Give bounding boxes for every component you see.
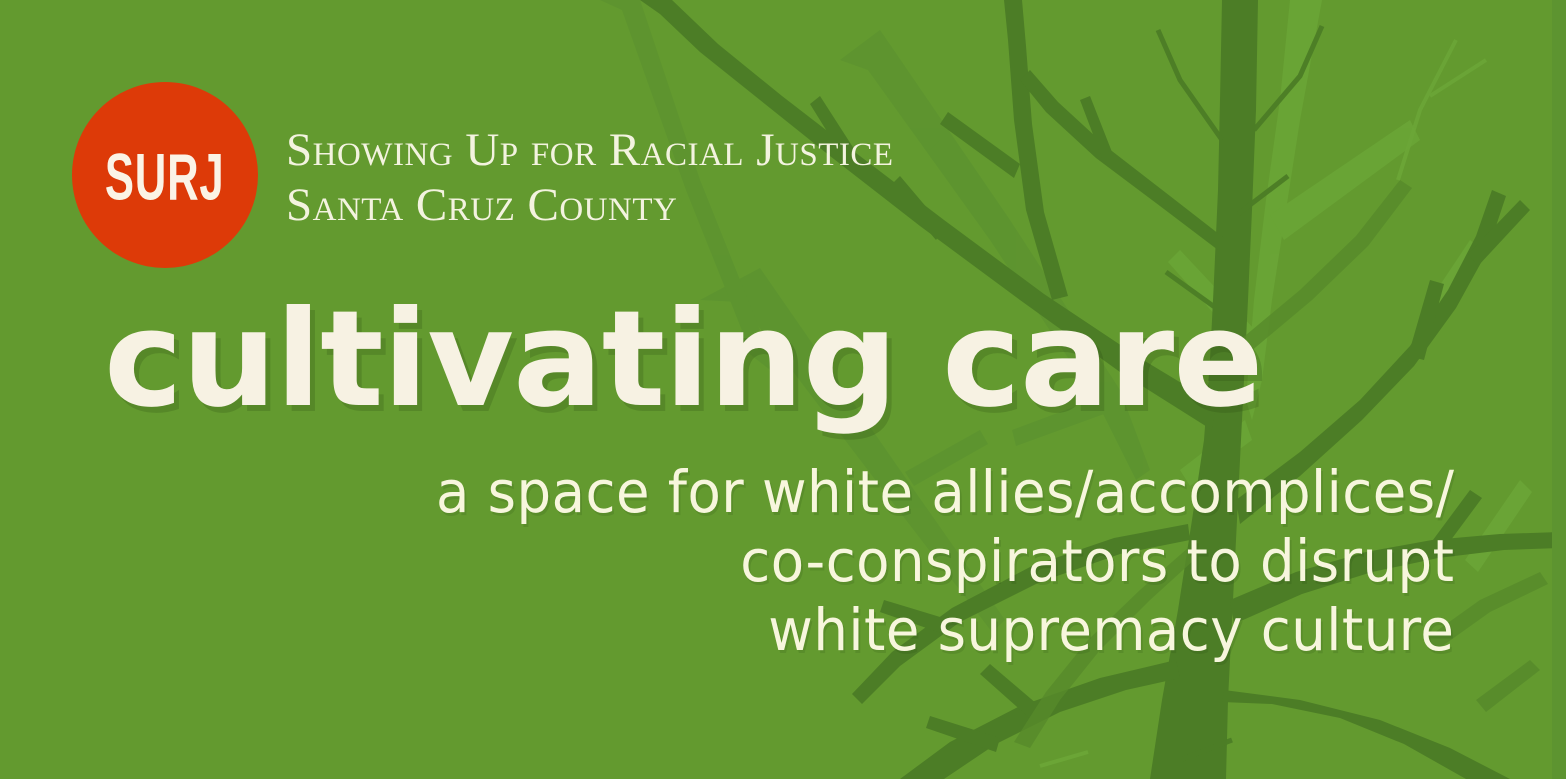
subtitle-line-1: a space for white allies/accomplices/: [436, 458, 1454, 527]
right-edge-accent: [1552, 0, 1566, 779]
subtitle-block: a space for white allies/accomplices/ co…: [371, 458, 1454, 665]
org-name-line-2: Santa Cruz County: [286, 178, 894, 233]
page-title: cultivating care: [104, 294, 1262, 427]
surj-circle-logo-icon: SURJ: [72, 82, 258, 268]
org-name-line-1: Showing Up for Racial Justice: [286, 123, 894, 178]
organization-name: Showing Up for Racial Justice Santa Cruz…: [286, 123, 894, 234]
surj-cultivating-care-banner: SURJ Showing Up for Racial Justice Santa…: [0, 0, 1566, 779]
subtitle-line-3: white supremacy culture: [436, 596, 1454, 665]
subtitle-line-2: co-conspirators to disrupt: [436, 527, 1454, 596]
banner-header: SURJ Showing Up for Racial Justice Santa…: [72, 82, 894, 268]
surj-logo-wordmark: SURJ: [105, 144, 225, 210]
